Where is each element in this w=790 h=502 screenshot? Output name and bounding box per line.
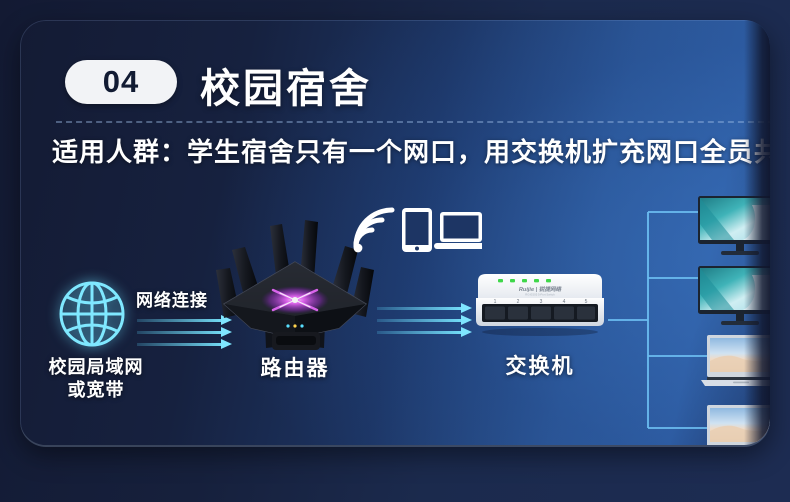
svg-text:1: 1 (494, 299, 497, 305)
source-label-line2: 或宽带 (28, 379, 164, 402)
desktop-monitor-icon (697, 195, 770, 262)
card-title: 校园宿舍 (200, 56, 372, 114)
laptop-icon (699, 333, 770, 394)
slide-canvas: 04 校园宿舍 适用人群：学生宿舍只有一个网口，用交换机扩充网口全员共享 校园局… (0, 0, 790, 502)
svg-text:3: 3 (540, 299, 543, 305)
svg-text:2: 2 (517, 299, 520, 305)
card-subtitle: 适用人群：学生宿舍只有一个网口，用交换机扩充网口全员共享 (52, 132, 770, 169)
arrow-line (377, 319, 463, 322)
wifi-dot (354, 244, 363, 253)
arrow-line (377, 331, 463, 334)
svg-text:5: 5 (585, 299, 588, 305)
router-label: 路由器 (216, 352, 374, 382)
network-switch-icon: 123 45 Ruijie | 锐捷网络 RG-ES05 5-Port Swit… (472, 268, 608, 336)
svg-text:RG-ES05 5-Port Switch: RG-ES05 5-Port Switch (525, 293, 555, 297)
desktop-monitor-icon (697, 265, 770, 332)
network-connect-label: 网络连接 (136, 286, 208, 311)
switch-label: 交换机 (465, 350, 615, 380)
source-label-line1: 校园局域网 (28, 356, 164, 379)
step-number-badge: 04 (65, 60, 177, 104)
svg-text:4: 4 (563, 299, 566, 305)
wireless-clients-group (350, 202, 482, 264)
header-divider (56, 121, 770, 123)
source-label: 校园局域网 或宽带 (28, 356, 164, 402)
wifi-signal-icon (356, 210, 392, 246)
arrows-router-to-switch (377, 307, 463, 343)
laptop-icon (434, 212, 482, 249)
scenario-card-panel: 04 校园宿舍 适用人群：学生宿舍只有一个网口，用交换机扩充网口全员共享 校园局… (20, 20, 770, 445)
globe-icon (56, 278, 128, 350)
arrow-line (377, 307, 463, 310)
tablet-icon (402, 208, 432, 252)
laptop-icon (699, 403, 770, 445)
